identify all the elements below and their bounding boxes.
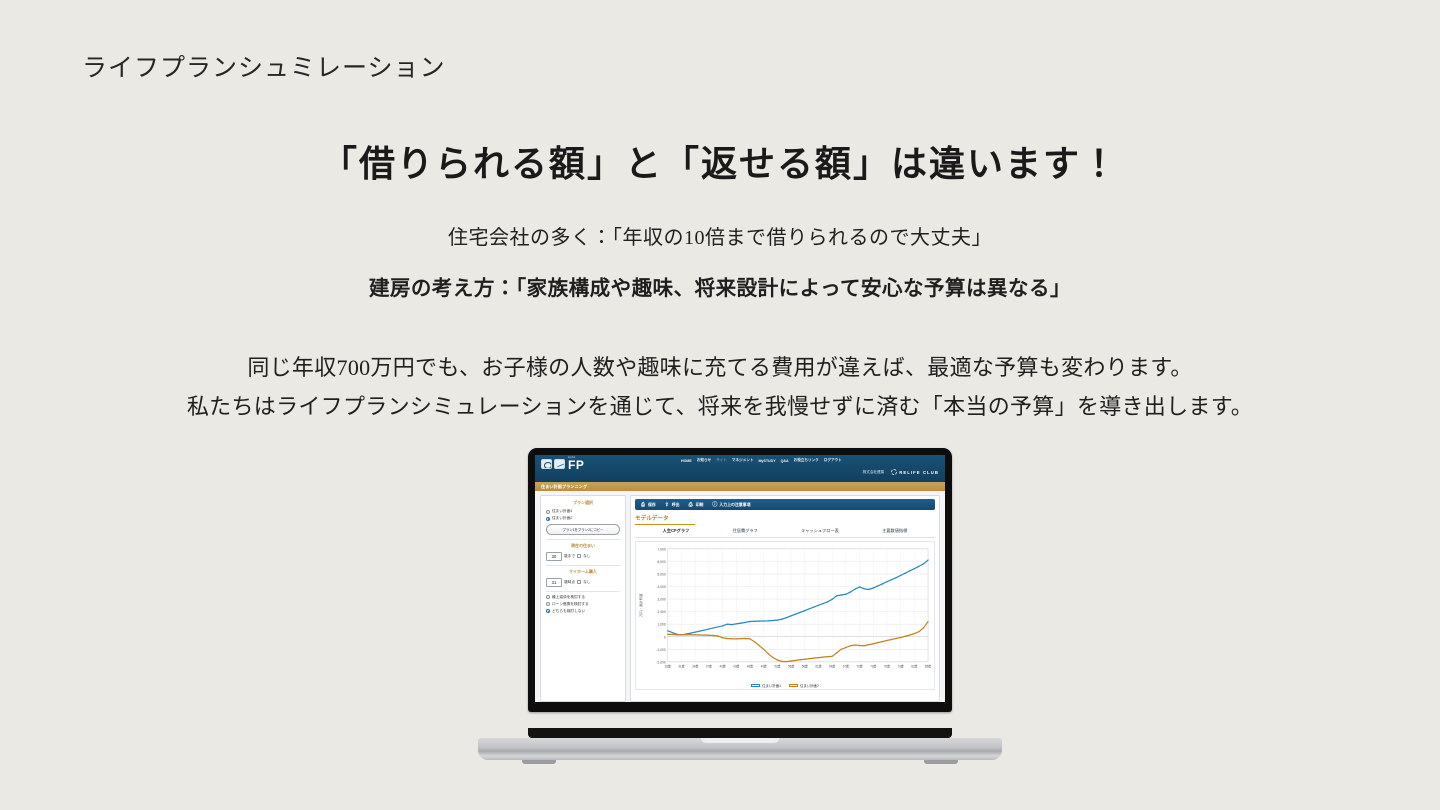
nav-item-links[interactable]: お役立ちリンク [794, 458, 819, 463]
copy-plan-button[interactable]: プラン1をプラン2にコピー [546, 524, 620, 535]
checkbox-icon-current-home-none[interactable] [577, 554, 581, 558]
nav-item-home[interactable]: HOME [681, 459, 692, 463]
relife-club-label: RELIFE CLUB [899, 470, 939, 475]
radio-icon-plan1[interactable] [546, 510, 550, 514]
purchase-age-input[interactable]: 31 [546, 578, 562, 587]
svg-text:万円：累計貯蓄: 万円：累計貯蓄 [638, 593, 643, 618]
relife-mark-icon [891, 469, 897, 475]
checkbox-icon-purchase-none[interactable] [577, 580, 581, 584]
notes-label: 入力上の注意事項 [719, 502, 750, 508]
model-data-title: モデルデータ [635, 514, 695, 525]
plan1-label: 住まい計画1 [552, 509, 573, 514]
svg-text:34歳: 34歳 [692, 663, 698, 668]
slide-root: ライフプランシュミレーション 「借りられる額」と「返せる額」は違います！ 住宅会… [0, 0, 1440, 810]
purchase-unit: 歳時点 [564, 580, 575, 585]
subheading-company-view: 建房の考え方：「家族構成や趣味、将来設計によって安心な予算は異なる」 [0, 271, 1440, 301]
legend-label-plan2: 住まい計画2 [800, 683, 819, 688]
svg-text:1,000: 1,000 [657, 623, 665, 627]
current-home-none-label: なし [583, 554, 590, 559]
svg-text:6,000: 6,000 [657, 560, 665, 564]
save-button[interactable]: 保存 [641, 502, 656, 508]
sidebar-item-prepayment[interactable]: 繰上返済を検討する [546, 595, 620, 600]
svg-text:43歳: 43歳 [733, 663, 739, 668]
load-button[interactable]: 呼出 [665, 502, 680, 508]
sidebar-item-plan2[interactable]: 住まい計画2 [546, 516, 620, 521]
nav-item-news[interactable]: お知らせ [697, 458, 711, 463]
brand-line: 株式会社建房 RELIFE CLUB [863, 469, 939, 475]
svg-text:31歳: 31歳 [678, 663, 684, 668]
svg-text:46歳: 46歳 [747, 663, 753, 668]
chart-container: 7,0006,0005,0004,0003,0002,0001,0000-1,0… [635, 541, 935, 690]
purchase-none-label: なし [583, 580, 590, 585]
body-paragraph-line-1: 同じ年収700万円でも、お子様の人数や趣味に充てる費用が違えば、最適な予算も変わ… [0, 350, 1440, 382]
svg-text:64歳: 64歳 [829, 663, 835, 668]
print-button[interactable]: 印刷 [689, 502, 704, 508]
logo-text: HyAA FP [568, 457, 584, 471]
tab-cashflow-table[interactable]: キャッシュフロー表 [801, 528, 839, 534]
current-home-field[interactable]: 30 歳まで なし [546, 552, 620, 561]
upload-icon [665, 502, 670, 507]
sidebar-item-neither[interactable]: どちらも検討しない [546, 609, 620, 614]
logo-icon-group [541, 459, 565, 469]
sidebar-item-refinance[interactable]: ローン借換を検討する [546, 602, 620, 607]
svg-text:4,000: 4,000 [657, 585, 665, 589]
svg-text:70歳: 70歳 [857, 663, 863, 668]
sidebar-item-plan1[interactable]: 住まい計画1 [546, 509, 620, 514]
print-label: 印刷 [696, 502, 704, 508]
svg-text:40歳: 40歳 [720, 663, 726, 668]
svg-text:82歳: 82歳 [911, 663, 917, 668]
current-home-heading: 現在の住まい [546, 543, 620, 549]
logo-fp: FP [568, 459, 584, 471]
svg-text:2,000: 2,000 [657, 610, 665, 614]
save-label: 保存 [648, 502, 656, 508]
purchase-field[interactable]: 31 歳時点 なし [546, 578, 620, 587]
nav-item-mystudy[interactable]: MySTUDY [758, 459, 775, 463]
svg-text:85歳: 85歳 [925, 663, 931, 668]
house-icon [541, 459, 552, 469]
current-home-age-input[interactable]: 30 [546, 552, 562, 561]
subheading-industry-view: 住宅会社の多く：「年収の10倍まで借りられるので大丈夫」 [0, 221, 1440, 250]
laptop-foot-left [522, 760, 556, 764]
save-icon [641, 502, 646, 507]
tab-housing-cost-graph[interactable]: 住居費グラフ [733, 528, 758, 534]
radio-icon-refinance[interactable] [546, 602, 550, 606]
app-header: HyAA FP HOME お知らせ サイト マネジメント MySTUDY Q&A… [535, 455, 945, 482]
app-footer [635, 690, 935, 698]
laptop-screen: HyAA FP HOME お知らせ サイト マネジメント MySTUDY Q&A… [535, 455, 945, 702]
main-nav[interactable]: HOME お知らせ サイト マネジメント MySTUDY Q&A お役立ちリンク… [681, 458, 842, 463]
laptop-mockup: HyAA FP HOME お知らせ サイト マネジメント MySTUDY Q&A… [478, 448, 1002, 760]
svg-text:55歳: 55歳 [788, 663, 794, 668]
svg-text:58歳: 58歳 [802, 663, 808, 668]
legend-label-plan1: 住まい計画1 [762, 683, 781, 688]
plan-select-heading: プラン選択 [546, 500, 620, 506]
chart-tabs[interactable]: 人生CFグラフ 住居費グラフ キャッシュフロー表 主要数値指標 [635, 525, 935, 538]
laptop-foot-right [924, 760, 958, 764]
app-logo[interactable]: HyAA FP [535, 455, 584, 471]
divider [546, 565, 620, 566]
printer-icon [689, 502, 694, 507]
fp-simulation-app: HyAA FP HOME お知らせ サイト マネジメント MySTUDY Q&A… [535, 455, 945, 702]
section-bar-label: 住まい計画プランニング [541, 484, 587, 490]
page-title: ライフプランシュミレーション [82, 48, 446, 84]
laptop-lid: HyAA FP HOME お知らせ サイト マネジメント MySTUDY Q&A… [528, 448, 952, 712]
radio-icon-plan2[interactable] [546, 517, 550, 521]
main-panel: 保存 呼出 印刷 [630, 495, 940, 702]
svg-text:79歳: 79歳 [898, 663, 904, 668]
svg-text:67歳: 67歳 [843, 663, 849, 668]
laptop-hinge [528, 728, 952, 738]
nav-item-logout[interactable]: ログアウト [824, 458, 842, 463]
neither-label: どちらも検討しない [552, 609, 585, 614]
purchase-heading: マイホーム購入 [546, 569, 620, 575]
svg-text:49歳: 49歳 [761, 663, 767, 668]
svg-text:3,000: 3,000 [657, 597, 665, 601]
notes-button[interactable]: 入力上の注意事項 [712, 502, 750, 508]
legend-key-plan1 [751, 684, 760, 688]
headline: 「借りられる額」と「返せる額」は違います！ [0, 135, 1440, 187]
current-home-unit: 歳まで [564, 554, 575, 559]
nav-item-site[interactable]: サイト [716, 458, 727, 463]
svg-text:52歳: 52歳 [774, 663, 780, 668]
svg-text:37歳: 37歳 [706, 663, 712, 668]
divider [546, 591, 620, 592]
legend-item-plan1: 住まい計画1 [751, 683, 781, 688]
svg-text:5,000: 5,000 [657, 572, 665, 576]
chart-legend: 住まい計画1 住まい計画2 [636, 683, 934, 688]
chart-icon [554, 459, 565, 469]
company-name: 株式会社建房 [863, 470, 885, 475]
svg-text:76歳: 76歳 [884, 663, 890, 668]
tab-life-cf-graph[interactable]: 人生CFグラフ [663, 528, 690, 534]
tab-key-indicators[interactable]: 主要数値指標 [882, 528, 907, 534]
sidebar-panel: プラン選択 住まい計画1 住まい計画2 プラン1をプラン2にコピー [540, 495, 626, 702]
nav-item-management[interactable]: マネジメント [732, 458, 754, 463]
radio-icon-neither[interactable] [546, 609, 550, 613]
plan2-label: 住まい計画2 [552, 516, 573, 521]
svg-text:28歳: 28歳 [665, 663, 671, 668]
radio-icon-prepayment[interactable] [546, 595, 550, 599]
svg-text:73歳: 73歳 [870, 663, 876, 668]
info-icon [712, 502, 717, 507]
section-bar: 住まい計画プランニング [535, 482, 945, 491]
nav-item-qa[interactable]: Q&A [781, 459, 789, 463]
life-cashflow-chart: 7,0006,0005,0004,0003,0002,0001,0000-1,0… [636, 542, 934, 689]
app-body: プラン選択 住まい計画1 住まい計画2 プラン1をプラン2にコピー [535, 491, 945, 702]
refinance-label: ローン借換を検討する [552, 602, 589, 607]
load-label: 呼出 [672, 502, 680, 508]
svg-text:0: 0 [664, 635, 666, 639]
divider [546, 539, 620, 540]
svg-text:61歳: 61歳 [815, 663, 821, 668]
svg-text:7,000: 7,000 [657, 547, 665, 551]
relife-club-logo: RELIFE CLUB [891, 469, 939, 475]
prepayment-label: 繰上返済を検討する [552, 595, 585, 600]
legend-key-plan2 [789, 684, 798, 688]
legend-item-plan2: 住まい計画2 [789, 683, 819, 688]
toolbar: 保存 呼出 印刷 [635, 499, 935, 510]
svg-text:-1,000: -1,000 [656, 648, 666, 652]
body-paragraph-line-2: 私たちはライフプランシミュレーションを通じて、将来を我慢せずに済む「本当の予算」… [0, 389, 1440, 421]
laptop-base [478, 738, 1002, 760]
